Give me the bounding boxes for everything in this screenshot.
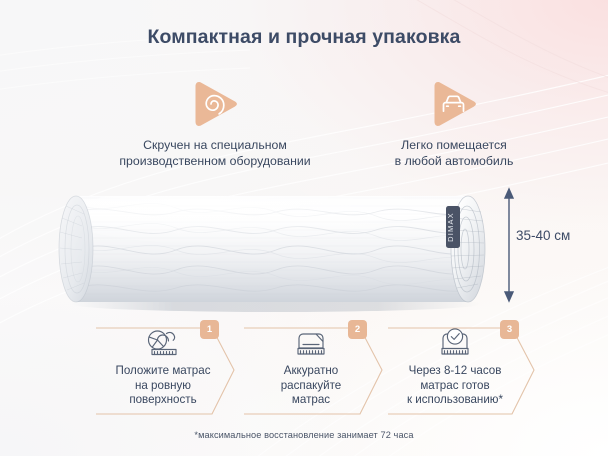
svg-text:DIMAX: DIMAX <box>446 212 455 242</box>
features-row: Скручен на специальном производственном … <box>0 80 608 175</box>
step-badge-2: 2 <box>348 320 367 339</box>
step-badge-1: 1 <box>200 320 219 339</box>
feature-item-car: Легко помещается в любой автомобиль <box>330 80 578 169</box>
feature-caption: Легко помещается в любой автомобиль <box>330 138 578 169</box>
car-icon <box>330 80 578 128</box>
step-card-3: Через 8-12 часов матрас готов к использо… <box>380 318 530 418</box>
height-dimension-label: 35-40 см <box>516 228 608 243</box>
step-card-2: Аккуратно распакуйте матрас 2 <box>236 318 386 418</box>
feature-item-rolled: Скручен на специальном производственном … <box>62 80 368 169</box>
footnote: *максимальное восстановление занимает 72… <box>0 430 608 440</box>
step-card-1: Положите матрас на ровную поверхность 1 <box>88 318 238 418</box>
brand-label: DIMAX <box>446 206 460 248</box>
spiral-roll-icon <box>62 80 368 128</box>
infographic-poster: Компактная и прочная упаковка Скручен на… <box>0 0 608 456</box>
step-badge-3: 3 <box>500 320 519 339</box>
page-title: Компактная и прочная упаковка <box>0 26 608 49</box>
step-caption-2: Аккуратно распакуйте матрас <box>236 364 386 408</box>
feature-caption: Скручен на специальном производственном … <box>62 138 368 169</box>
step-caption-3: Через 8-12 часов матрас готов к использо… <box>380 364 530 408</box>
steps-row: Положите матрас на ровную поверхность 1 <box>88 318 536 420</box>
step-caption-1: Положите матрас на ровную поверхность <box>88 364 238 408</box>
height-dimension: 35-40 см <box>500 186 608 304</box>
rolled-mattress-image: DIMAX <box>36 178 516 313</box>
double-arrow-vertical-icon <box>500 186 530 304</box>
